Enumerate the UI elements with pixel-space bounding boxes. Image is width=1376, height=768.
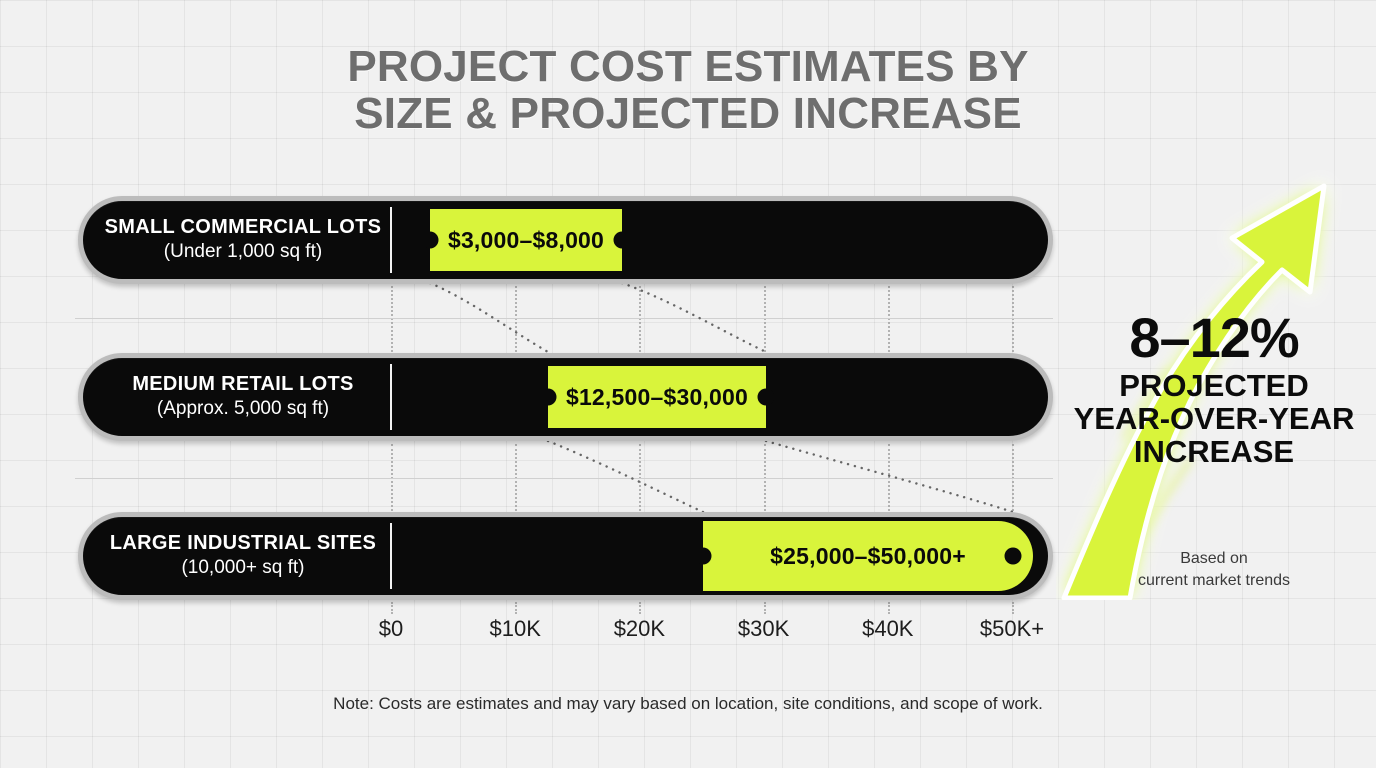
x-axis-tick-label: $20K: [614, 616, 665, 642]
row-separator: [75, 318, 1053, 319]
chart-footnote: Note: Costs are estimates and may vary b…: [0, 694, 1376, 714]
vertical-gridline: [639, 286, 641, 352]
row-sublabel: (10,000+ sq ft): [181, 557, 304, 580]
range-value-label: $25,000–$50,000+: [770, 543, 966, 570]
vertical-gridline: [639, 602, 641, 614]
projected-increase-callout: 8–12% PROJECTED YEAR-OVER-YEAR INCREASE …: [1056, 120, 1376, 600]
bar-row-small-commercial[interactable]: SMALL COMMERCIAL LOTS (Under 1,000 sq ft…: [78, 196, 1053, 284]
range-value-label: $12,500–$30,000: [566, 384, 748, 411]
axis-origin-divider: [390, 523, 392, 589]
x-axis-tick-label: $30K: [738, 616, 789, 642]
axis-origin-divider: [390, 207, 392, 273]
vertical-gridline: [1012, 286, 1014, 352]
x-axis-tick-label: $50K+: [980, 616, 1044, 642]
row-label-group: LARGE INDUSTRIAL SITES (10,000+ sq ft): [96, 512, 390, 600]
vertical-gridline: [888, 602, 890, 614]
row-label-group: SMALL COMMERCIAL LOTS (Under 1,000 sq ft…: [96, 196, 390, 284]
row-sublabel: (Under 1,000 sq ft): [164, 241, 322, 264]
axis-origin-divider: [390, 364, 392, 430]
vertical-gridline: [764, 286, 766, 352]
row-label-group: MEDIUM RETAIL LOTS (Approx. 5,000 sq ft): [96, 353, 390, 441]
row-sublabel: (Approx. 5,000 sq ft): [157, 398, 329, 421]
x-axis-tick-label: $0: [379, 616, 403, 642]
range-start-dot: [422, 232, 439, 249]
range-end-dot: [1005, 548, 1022, 565]
vertical-gridline: [1012, 602, 1014, 614]
x-axis-tick-label: $10K: [489, 616, 540, 642]
row-label: SMALL COMMERCIAL LOTS: [105, 216, 382, 238]
row-separator: [75, 478, 1053, 479]
callout-headline: 8–12%: [1064, 310, 1364, 366]
vertical-gridline: [391, 602, 393, 614]
range-bar[interactable]: $25,000–$50,000+: [703, 521, 1033, 591]
row-label: MEDIUM RETAIL LOTS: [132, 373, 353, 395]
range-bar[interactable]: $12,500–$30,000: [548, 366, 766, 428]
row-label: LARGE INDUSTRIAL SITES: [110, 532, 376, 554]
range-end-dot: [614, 232, 631, 249]
range-start-dot: [540, 389, 557, 406]
callout-line-2: YEAR-OVER-YEAR: [1064, 403, 1364, 436]
callout-line-3: INCREASE: [1064, 436, 1364, 469]
vertical-gridline: [515, 602, 517, 614]
callout-text-group: 8–12% PROJECTED YEAR-OVER-YEAR INCREASE: [1064, 310, 1364, 469]
vertical-gridline: [391, 286, 393, 352]
range-value-label: $3,000–$8,000: [448, 227, 604, 254]
infographic-canvas: PROJECT COST ESTIMATES BY SIZE & PROJECT…: [0, 0, 1376, 768]
range-end-dot: [758, 389, 775, 406]
vertical-gridline: [764, 602, 766, 614]
callout-subnote-line-2: current market trends: [1064, 570, 1364, 592]
range-bar[interactable]: $3,000–$8,000: [430, 209, 622, 271]
bar-row-large-industrial[interactable]: LARGE INDUSTRIAL SITES (10,000+ sq ft) $…: [78, 512, 1053, 600]
bar-row-medium-retail[interactable]: MEDIUM RETAIL LOTS (Approx. 5,000 sq ft)…: [78, 353, 1053, 441]
vertical-gridline: [515, 286, 517, 352]
callout-subnote-line-1: Based on: [1064, 548, 1364, 570]
vertical-gridline: [888, 286, 890, 352]
callout-subnote: Based on current market trends: [1064, 548, 1364, 591]
callout-line-1: PROJECTED: [1064, 370, 1364, 403]
range-start-dot: [695, 548, 712, 565]
x-axis-tick-label: $40K: [862, 616, 913, 642]
